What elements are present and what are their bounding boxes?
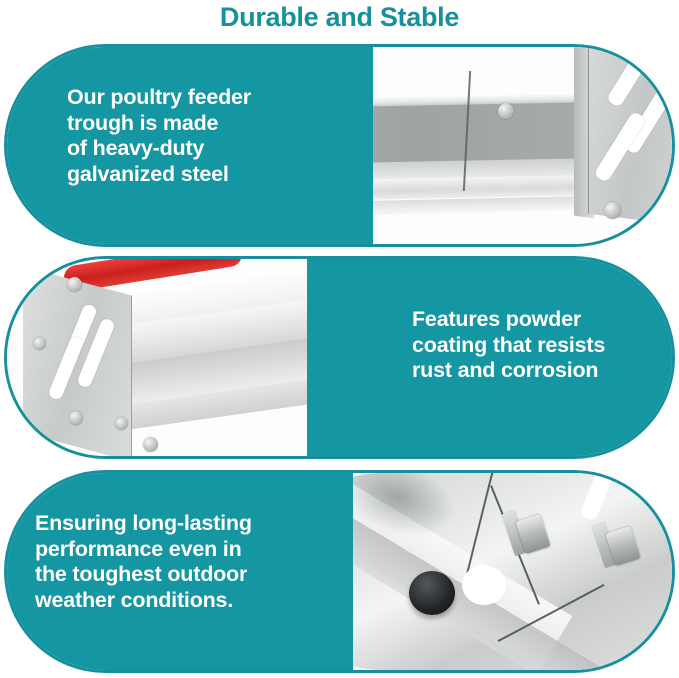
feature-panel-1: Our poultry feeder trough is made of hea…: [4, 44, 675, 247]
panel-1-caption: Our poultry feeder trough is made of hea…: [67, 85, 317, 187]
bolt-icon: [69, 411, 83, 425]
bolt-icon: [498, 103, 514, 119]
bolt-icon: [67, 277, 82, 292]
panel-2-caption: Features powder coating that resists rus…: [412, 307, 672, 384]
panel-1-shell: Our poultry feeder trough is made of hea…: [4, 44, 675, 247]
black-rubber-cap: [409, 571, 455, 615]
feature-panel-2: Features powder coating that resists rus…: [4, 256, 675, 459]
panel-3-caption: Ensuring long-lasting performance even i…: [35, 511, 315, 613]
bolt-icon: [33, 337, 46, 350]
bolt-icon: [604, 202, 621, 219]
infographic-page: Durable and Stable: [0, 0, 679, 678]
page-title: Durable and Stable: [0, 1, 679, 33]
drain-hole: [462, 565, 506, 605]
bolt-icon: [115, 417, 128, 430]
panel-2-shell: Features powder coating that resists rus…: [4, 256, 675, 459]
bolt-icon: [143, 437, 158, 452]
panel-3-shell: Ensuring long-lasting performance even i…: [4, 470, 675, 673]
feature-panel-3: Ensuring long-lasting performance even i…: [4, 470, 675, 673]
